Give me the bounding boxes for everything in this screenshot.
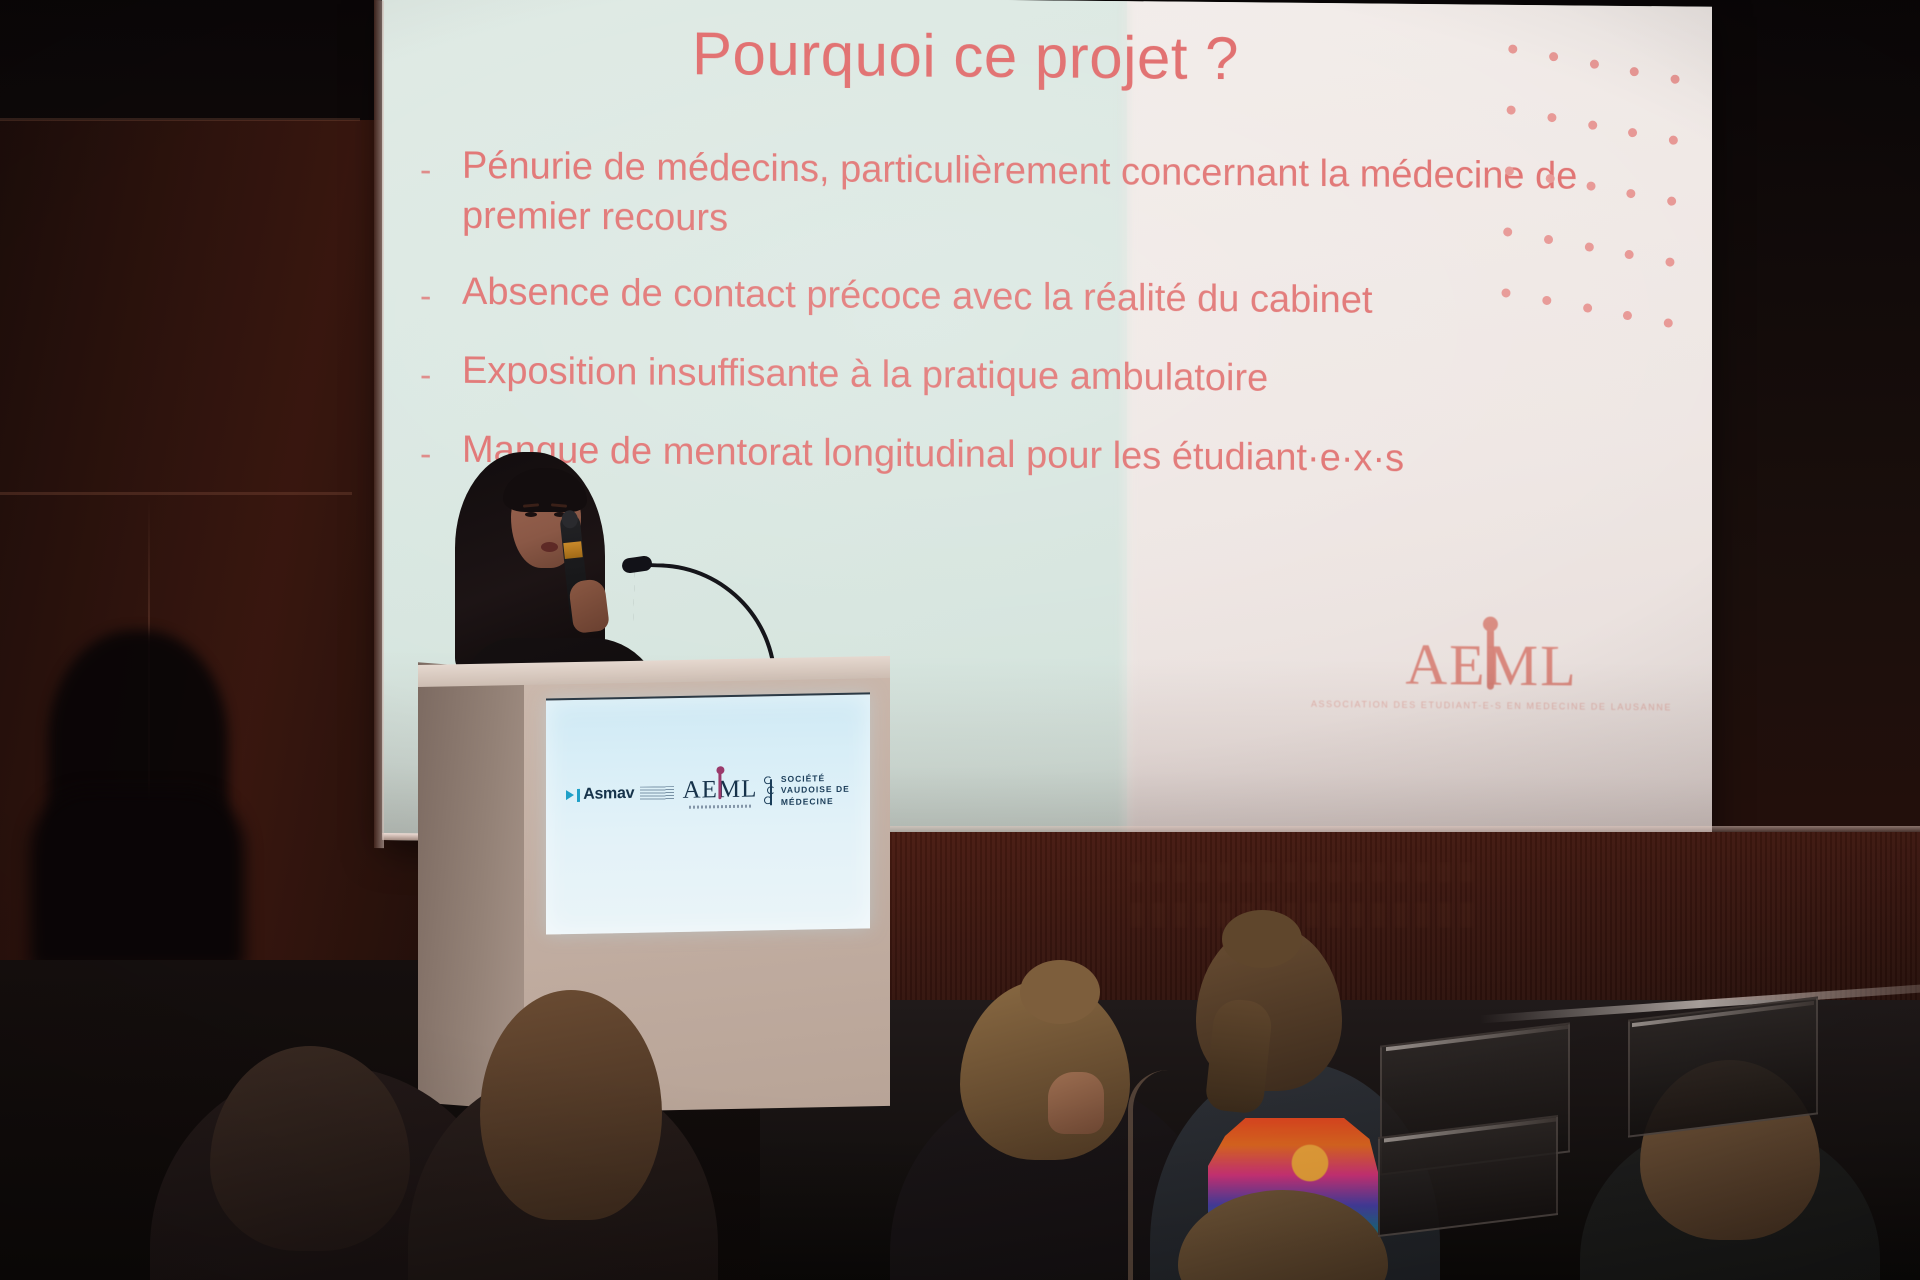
grid-dot (1583, 303, 1592, 312)
wall-engraved-text (1130, 862, 1480, 928)
grid-dot (1586, 181, 1595, 190)
grid-dot (1503, 227, 1512, 236)
dot-grid-row (1506, 105, 1679, 144)
grid-dot (1508, 44, 1517, 53)
dot-grid-decoration (1504, 44, 1681, 222)
svm-line-2: VAUDOISE DE (781, 784, 850, 795)
grid-dot (1623, 311, 1632, 320)
grid-dot (1589, 59, 1598, 68)
caduceus-rod-icon (718, 769, 721, 799)
asmav-logo: Asmav (566, 784, 674, 804)
asmav-fineprint (640, 786, 674, 801)
grid-dot (1588, 120, 1597, 129)
svm-wordmark: SOCIÉTÉ VAUDOISE DE MÉDECINE (781, 773, 850, 809)
grid-dot (1630, 67, 1639, 76)
grid-dot (1670, 75, 1679, 84)
grid-dot (1584, 242, 1593, 251)
snake-coil (767, 786, 775, 794)
chair-backrest (1128, 1070, 1192, 1280)
grid-dot (1625, 250, 1634, 259)
caduceus-rod-icon (1487, 620, 1494, 690)
podium: Asmav AEML SOCIÉTÉ VAUDOISE DE MÉDEC (418, 656, 890, 1115)
dot-grid-row (1501, 288, 1674, 327)
speaker-eye-left (525, 512, 537, 517)
audience-member-head (480, 990, 662, 1220)
svm-line-1: SOCIÉTÉ (781, 773, 825, 784)
aeml-logo: AEML (683, 775, 758, 808)
grid-dot (1544, 235, 1553, 244)
grid-dot (1628, 128, 1637, 137)
grid-dot (1626, 189, 1635, 198)
bullet-marker: - (420, 140, 462, 193)
arrow-icon (566, 790, 574, 800)
aeml-fineprint (689, 805, 751, 809)
bullet-text: Exposition insuffisante à la pratique am… (462, 346, 1600, 407)
svm-logo: SOCIÉTÉ VAUDOISE DE MÉDECINE (766, 773, 850, 809)
snake-coil (764, 796, 772, 804)
silhouette-figure-shoulders (30, 790, 245, 970)
snake-coil (764, 776, 772, 784)
bullet-text: Pénurie de médecins, particulièrement co… (462, 141, 1600, 252)
asmav-bar (577, 788, 580, 801)
left-panel-top-edge (0, 118, 360, 121)
grid-dot (1549, 52, 1558, 61)
bullet-text: Absence de contact précoce avec la réali… (462, 267, 1600, 328)
svm-line-3: MÉDECINE (781, 796, 834, 807)
grid-dot (1542, 296, 1551, 305)
dot-grid-row (1502, 227, 1675, 266)
dot-grid-row (1504, 166, 1677, 205)
auditorium-chair (1628, 996, 1818, 1137)
grid-dot (1665, 257, 1674, 266)
asmav-wordmark: Asmav (583, 785, 634, 804)
grid-dot (1664, 318, 1673, 327)
audience-member-ponytail (1204, 997, 1273, 1114)
bullet-marker: - (420, 346, 462, 399)
asclepius-rod-icon (766, 776, 776, 806)
list-item: - Absence de contact précoce avec la réa… (420, 267, 1600, 331)
audience-member-hand (1048, 1072, 1104, 1134)
dot-grid-row (1508, 44, 1681, 83)
audience-member-hair-bun (1222, 910, 1302, 968)
grid-dot (1667, 196, 1676, 205)
speaker-mouth (541, 542, 558, 552)
grid-dot (1505, 166, 1514, 175)
audience-member-hair-bun (1020, 960, 1100, 1024)
list-item: - Exposition insuffisante à la pratique … (420, 346, 1600, 410)
presentation-photo: Pourquoi ce projet ? - Pénurie de médeci… (0, 0, 1920, 1280)
grid-dot (1669, 136, 1678, 145)
screen-left-frame (374, 0, 384, 848)
grid-dot (1501, 288, 1510, 297)
grid-dot (1547, 113, 1556, 122)
bullet-marker: - (420, 267, 462, 320)
list-item: - Pénurie de médecins, particulièrement … (420, 140, 1600, 252)
grid-dot (1545, 174, 1554, 183)
podium-logo-screen: Asmav AEML SOCIÉTÉ VAUDOISE DE MÉDEC (546, 692, 870, 934)
slide-aeml-logo: AEML ASSOCIATION DES ETUDIANT-E-S EN MED… (1311, 630, 1672, 712)
grid-dot (1506, 105, 1515, 114)
left-panel-mid-edge (0, 492, 352, 495)
slide-title: Pourquoi ce projet ? (692, 19, 1239, 93)
